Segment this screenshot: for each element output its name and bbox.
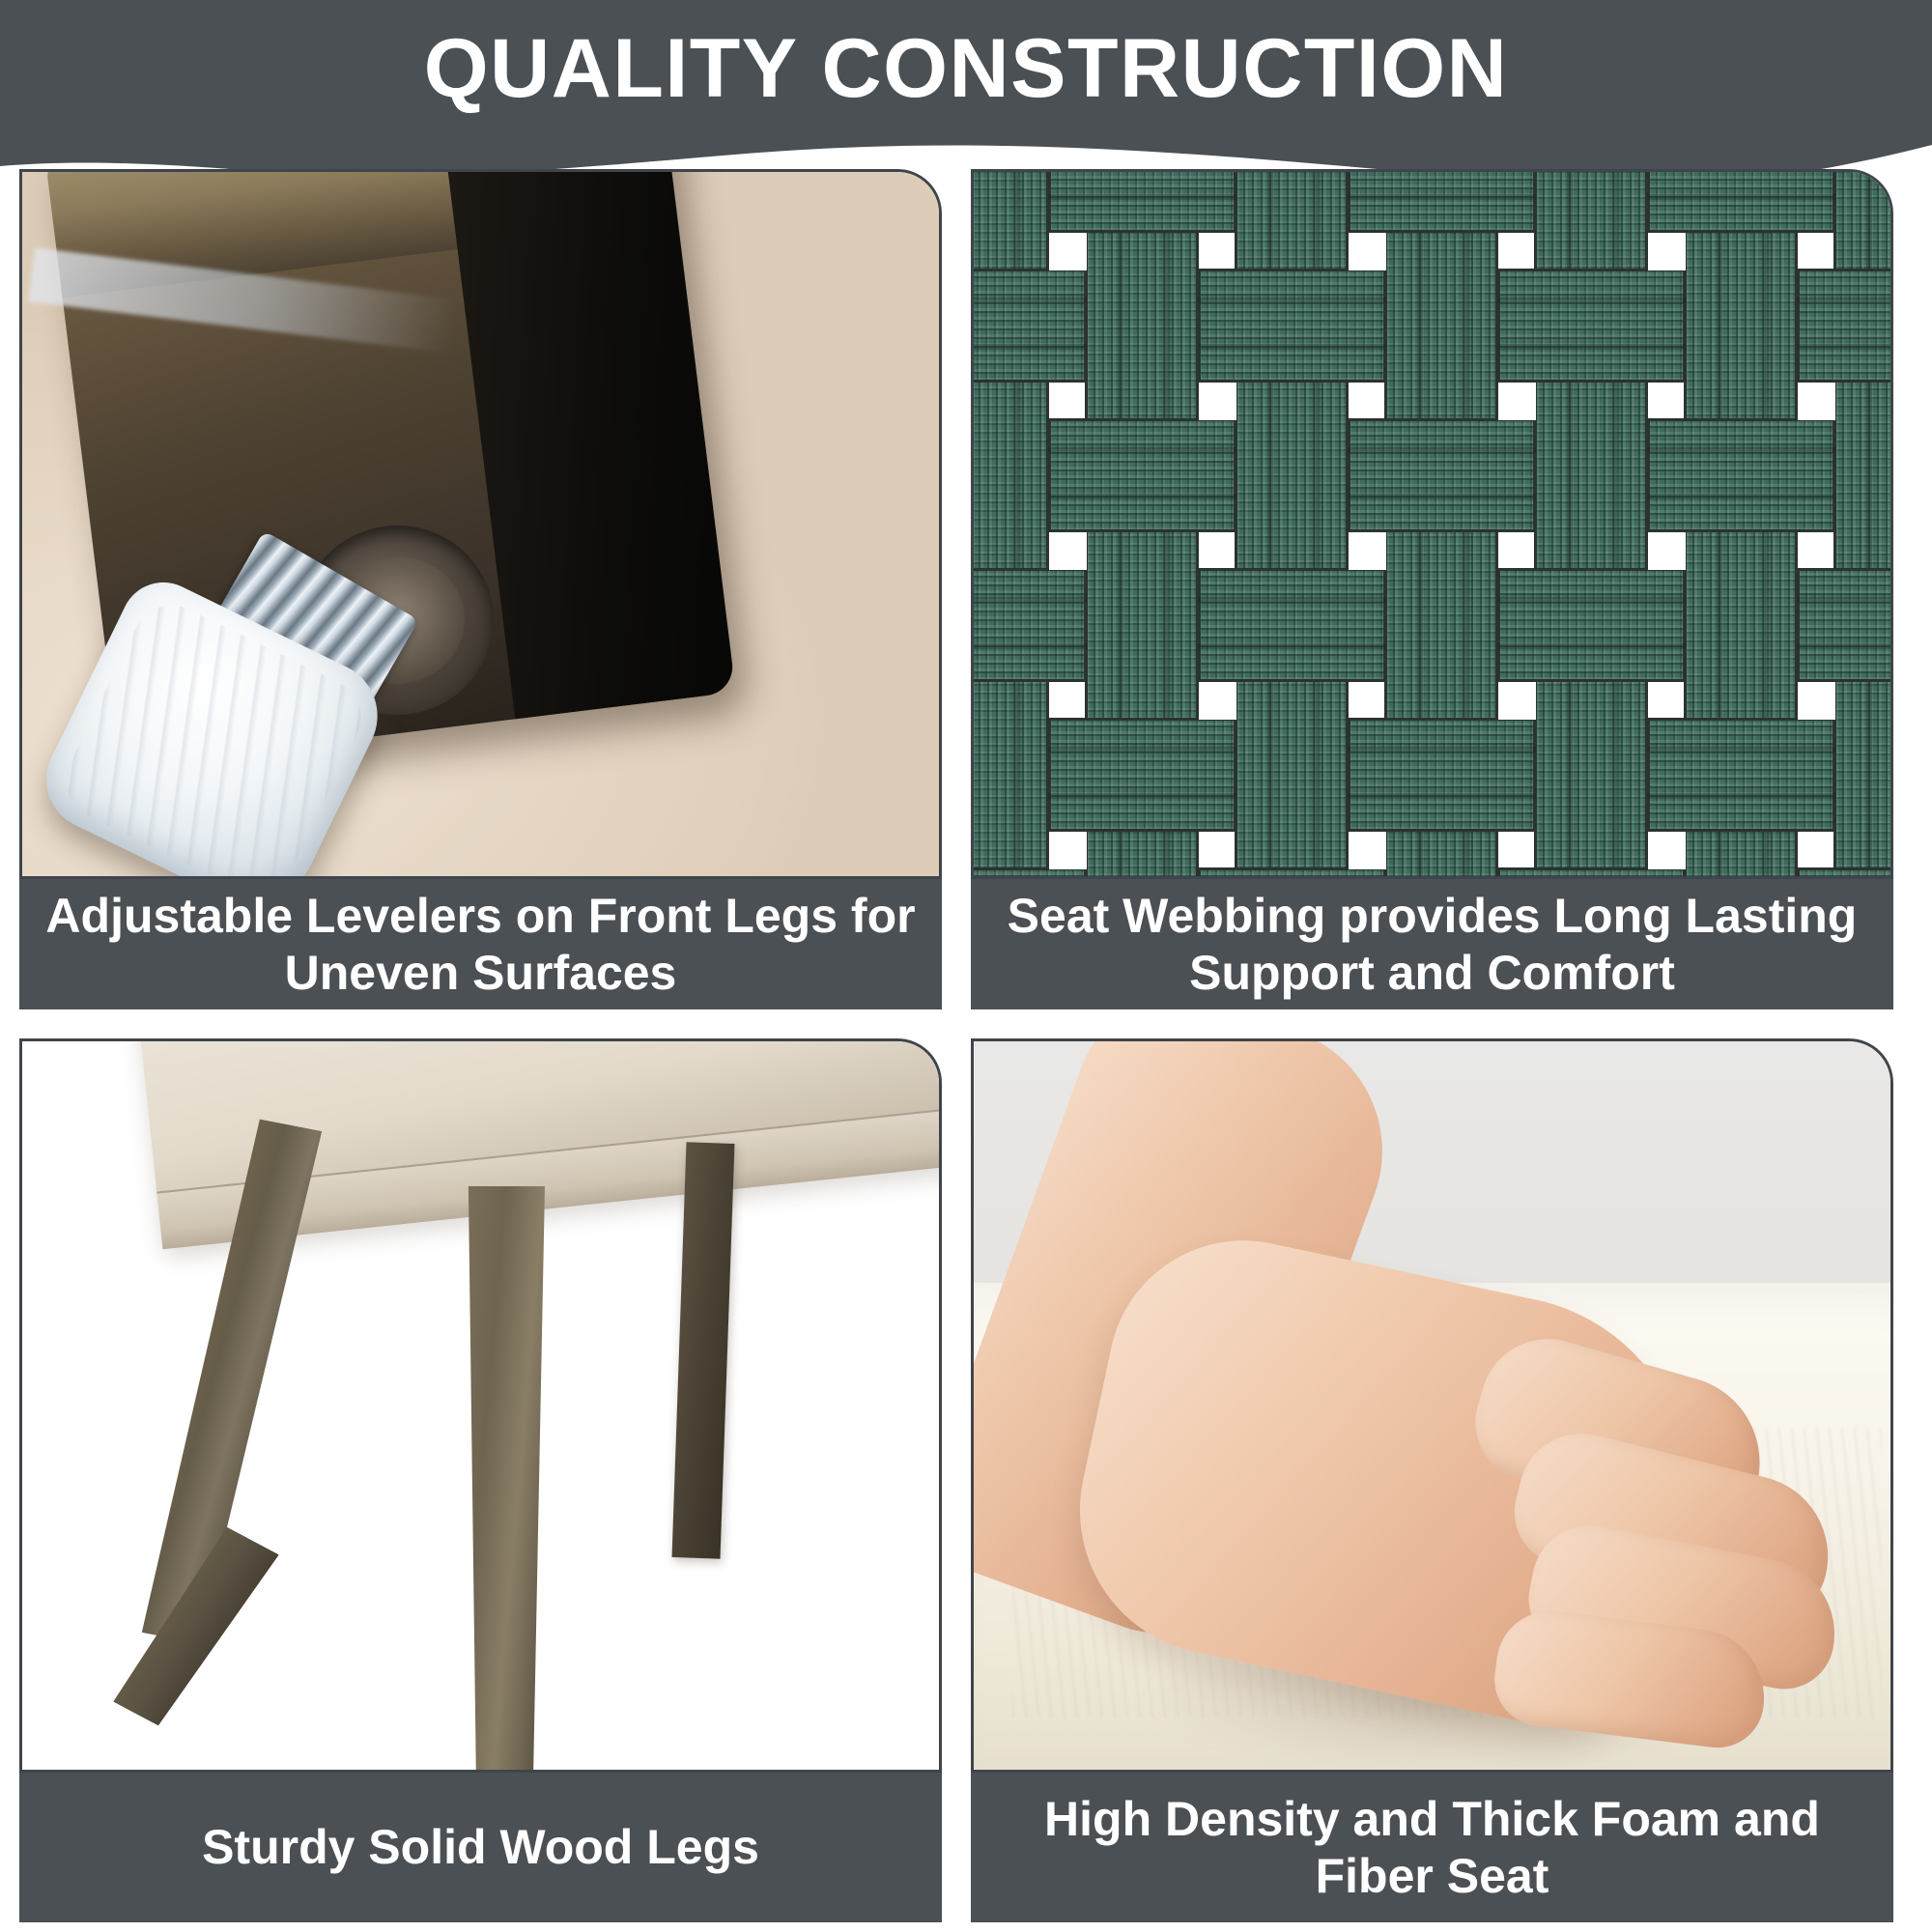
webbing-strap-horizontal [1048, 169, 1236, 233]
webbing-strap-horizontal [1797, 867, 1893, 879]
webbing-strap-horizontal [1348, 418, 1536, 532]
webbing-gap [1798, 682, 1835, 720]
webbing-gap [1199, 682, 1236, 720]
caption-text: High Density and Thick Foam and Fiber Se… [988, 1791, 1876, 1905]
webbing-strap-horizontal [1348, 169, 1536, 233]
webbing-strap-horizontal [971, 568, 1087, 682]
webbing-gap [1349, 532, 1386, 570]
webbing-gap [1349, 832, 1386, 869]
seat-webbing-photo [971, 169, 1893, 879]
webbing-strap-horizontal [1647, 418, 1835, 532]
caption-text: Adjustable Levelers on Front Legs for Un… [37, 888, 924, 1002]
webbing-strap-horizontal [1497, 568, 1686, 682]
webbing-gap [1049, 832, 1087, 869]
webbing-strap-horizontal [1348, 718, 1536, 832]
webbing-gap [1648, 233, 1686, 270]
webbing-gap [1498, 682, 1536, 720]
webbing-gap [1648, 832, 1686, 869]
webbing-gap [1798, 383, 1835, 420]
caption-text: Seat Webbing provides Long Lasting Suppo… [988, 888, 1876, 1002]
webbing-strap-horizontal [1198, 568, 1386, 682]
page-title: QUALITY CONSTRUCTION [0, 27, 1932, 110]
webbing-gap [1349, 233, 1386, 270]
adjustable-leveler-photo [19, 169, 942, 879]
panel-levelers-caption: Adjustable Levelers on Front Legs for Un… [19, 879, 942, 1009]
webbing-strap-horizontal [1647, 718, 1835, 832]
caption-text: Sturdy Solid Wood Legs [37, 1819, 924, 1876]
webbing-strap-horizontal [1647, 169, 1835, 233]
webbing-strap-horizontal [1198, 269, 1386, 383]
panel-wood-legs-caption: Sturdy Solid Wood Legs [19, 1773, 942, 1922]
webbing-weave-pattern [974, 172, 1890, 876]
solid-wood-legs-photo [19, 1038, 942, 1773]
webbing-strap-horizontal [1797, 568, 1893, 682]
panel-levelers: Adjustable Levelers on Front Legs for Un… [19, 169, 942, 1009]
panel-webbing-caption: Seat Webbing provides Long Lasting Suppo… [971, 879, 1893, 1009]
webbing-strap-horizontal [1497, 269, 1686, 383]
panel-webbing: Seat Webbing provides Long Lasting Suppo… [971, 169, 1893, 1009]
panel-wood-legs: Sturdy Solid Wood Legs [19, 1038, 942, 1922]
webbing-gap [1199, 383, 1236, 420]
feature-grid: Adjustable Levelers on Front Legs for Un… [19, 169, 1913, 1922]
webbing-gap [1648, 532, 1686, 570]
webbing-strap-horizontal [1797, 269, 1893, 383]
panel-foam-seat: High Density and Thick Foam and Fiber Se… [971, 1038, 1893, 1922]
wood-leg-back-icon [672, 1142, 735, 1558]
webbing-strap-horizontal [1048, 718, 1236, 832]
webbing-gap [1049, 233, 1087, 270]
panel-foam-seat-caption: High Density and Thick Foam and Fiber Se… [971, 1773, 1893, 1922]
webbing-strap-horizontal [1048, 418, 1236, 532]
foam-seat-photo [971, 1038, 1893, 1773]
wood-leg-front-icon [462, 1186, 545, 1773]
webbing-gap [1498, 383, 1536, 420]
header-banner: QUALITY CONSTRUCTION [0, 0, 1932, 184]
webbing-strap-horizontal [971, 269, 1087, 383]
webbing-gap [1049, 532, 1087, 570]
